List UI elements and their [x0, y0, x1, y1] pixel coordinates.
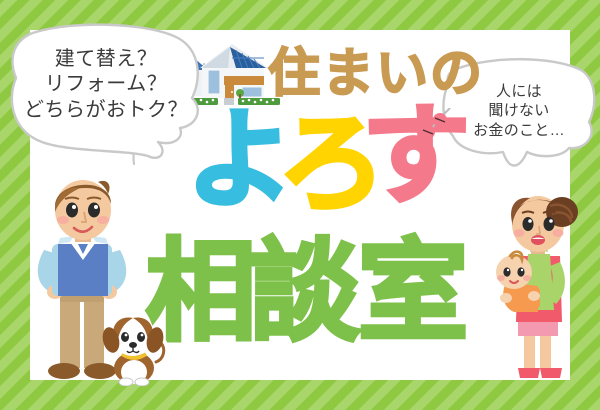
woman-illustration — [478, 186, 582, 384]
title-sub-char-2: 談 — [250, 238, 360, 348]
title-sub: 相 談 室 — [146, 238, 476, 358]
title-lead: 住まいの — [268, 48, 484, 100]
question-bubble-left: 建て替え？ リフォーム？ どちらがおトク？ — [8, 22, 204, 162]
dog-illustration — [100, 310, 170, 386]
cherry-decoration — [420, 108, 460, 148]
title-sub-char-3: 室 — [358, 238, 468, 348]
title-main: よ ろ す — [186, 112, 426, 222]
banner-root: 建て替え？ リフォーム？ どちらがおトク？ 人には 聞けない お金のこと… 住ま… — [0, 0, 600, 410]
